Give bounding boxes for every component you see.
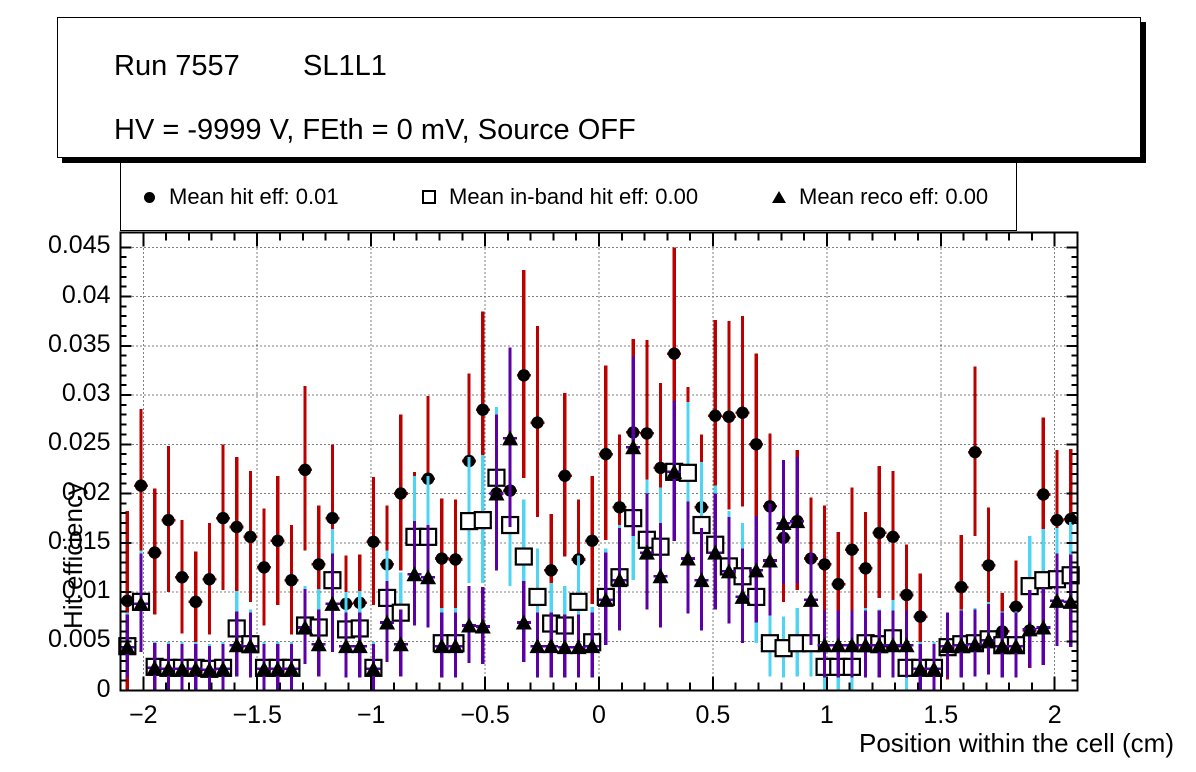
filled-circle-icon bbox=[129, 162, 169, 232]
y-axis-tick-label: 0 bbox=[97, 675, 111, 704]
y-axis-tick-label: 0.03 bbox=[62, 379, 111, 408]
y-axis-tick-label: 0.035 bbox=[48, 330, 111, 359]
legend-entry-inband-eff[interactable]: Mean in-band hit eff: 0.00 bbox=[409, 162, 698, 232]
plot-canvas: Hit efficiency Position within the cell … bbox=[0, 0, 1196, 772]
title-superlayer: SL1L1 bbox=[303, 50, 387, 83]
y-axis-tick-label: 0.04 bbox=[62, 281, 111, 310]
x-axis-tick-label: −0.5 bbox=[445, 701, 525, 730]
title-conditions: HV = -9999 V, FEth = 0 mV, Source OFF bbox=[114, 114, 636, 147]
filled-triangle-icon bbox=[759, 162, 799, 232]
y-axis-tick-label: 0.02 bbox=[62, 478, 111, 507]
legend-entry-hit-eff[interactable]: Mean hit eff: 0.01 bbox=[129, 162, 339, 232]
x-axis-tick-label: 0 bbox=[559, 701, 639, 730]
open-square-icon bbox=[409, 162, 449, 232]
x-axis-tick-label: 2 bbox=[1015, 701, 1095, 730]
title-box: Run 7557 SL1L1 HV = -9999 V, FEth = 0 mV… bbox=[57, 17, 1141, 158]
x-axis-tick-label: 0.5 bbox=[673, 701, 753, 730]
legend-label-reco-eff: Mean reco eff: 0.00 bbox=[799, 184, 988, 210]
x-axis-tick-label: 1.5 bbox=[901, 701, 981, 730]
title-run: Run 7557 bbox=[114, 50, 240, 83]
legend-label-inband-eff: Mean in-band hit eff: 0.00 bbox=[449, 184, 698, 210]
x-axis-title: Position within the cell (cm) bbox=[859, 728, 1174, 759]
x-axis-tick-label: −2 bbox=[103, 701, 183, 730]
y-axis-tick-label: 0.045 bbox=[48, 231, 111, 260]
legend-entry-reco-eff[interactable]: Mean reco eff: 0.00 bbox=[759, 162, 988, 232]
y-axis-tick-label: 0.015 bbox=[48, 527, 111, 556]
chart-legend: Mean hit eff: 0.01 Mean in-band hit eff:… bbox=[120, 161, 1017, 231]
y-axis-tick-label: 0.025 bbox=[48, 428, 111, 457]
x-axis-tick-label: 1 bbox=[787, 701, 867, 730]
x-axis-tick-label: −1.5 bbox=[217, 701, 297, 730]
legend-label-hit-eff: Mean hit eff: 0.01 bbox=[169, 184, 339, 210]
y-axis-tick-label: 0.01 bbox=[62, 576, 111, 605]
y-axis-tick-label: 0.005 bbox=[48, 625, 111, 654]
x-axis-tick-label: −1 bbox=[331, 701, 411, 730]
